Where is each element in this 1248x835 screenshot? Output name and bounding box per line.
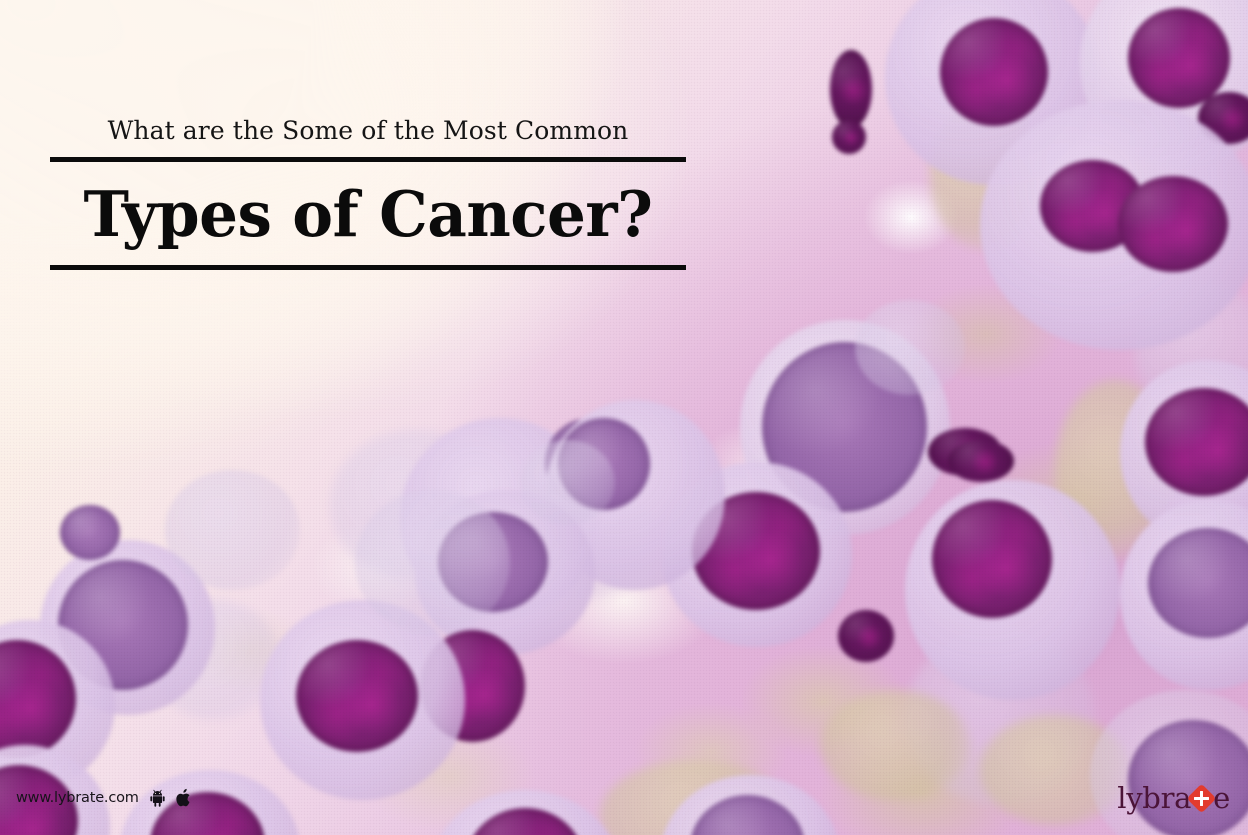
- logo-text-after: e: [1213, 784, 1230, 813]
- lybrate-logo: lybra e: [1117, 781, 1230, 815]
- headline-block: What are the Some of the Most Common Typ…: [50, 118, 686, 270]
- site-url-text: www.lybrate.com: [16, 791, 139, 806]
- lybrate-plus-diamond-icon: [1189, 786, 1214, 811]
- android-robot-icon: [148, 789, 167, 808]
- headline-subtitle: What are the Some of the Most Common: [50, 118, 686, 157]
- apple-logo-icon: [176, 788, 193, 808]
- headline-rule-bottom: [50, 265, 686, 270]
- logo-text-before: lybra: [1117, 784, 1191, 813]
- poster-canvas: What are the Some of the Most Common Typ…: [0, 0, 1248, 835]
- footer-branding: www.lybrate.com: [16, 786, 193, 810]
- headline-title: Types of Cancer?: [60, 162, 677, 265]
